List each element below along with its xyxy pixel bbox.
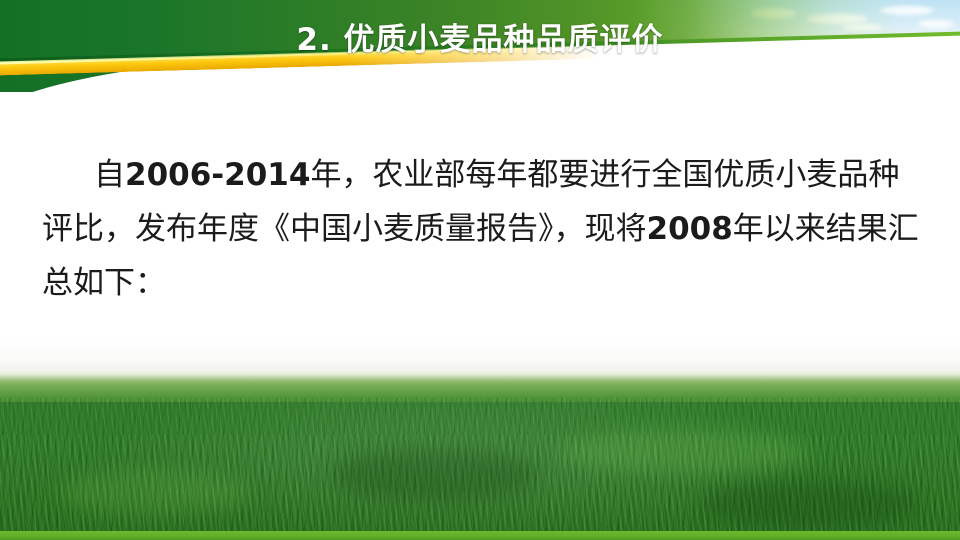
body-paragraph: 自2006-2014年，农业部每年都要进行全国优质小麦品种评比，发布年度《中国小…	[42, 148, 922, 309]
grass-highlight-patch	[60, 470, 250, 516]
slide-canvas: 2. 优质小麦品种品质评价 自2006-2014年，农业部每年都要进行全国优质小…	[0, 0, 960, 540]
slide-footer-grass-photo	[0, 340, 960, 540]
body-line2-year: 2008	[647, 211, 733, 247]
body-line1-year-range: 2006-2014	[125, 157, 310, 193]
grass-shadow-patch	[330, 448, 540, 500]
body-line2-suffix: 年以	[733, 211, 795, 246]
slide-header-banner: 2. 优质小麦品种品质评价	[0, 0, 960, 92]
body-line1-suffix: 年，农业部每年都要进行全国优质小麦品	[310, 157, 868, 192]
grass-shadow-patch	[700, 480, 920, 528]
grass-highlight-patch	[560, 430, 810, 474]
slide-content-area: 自2006-2014年，农业部每年都要进行全国优质小麦品种评比，发布年度《中国小…	[0, 100, 960, 350]
body-line1-prefix: 自	[94, 157, 125, 192]
page-title: 2. 优质小麦品种品质评价	[0, 14, 960, 59]
footer-bottom-bar	[0, 531, 960, 540]
